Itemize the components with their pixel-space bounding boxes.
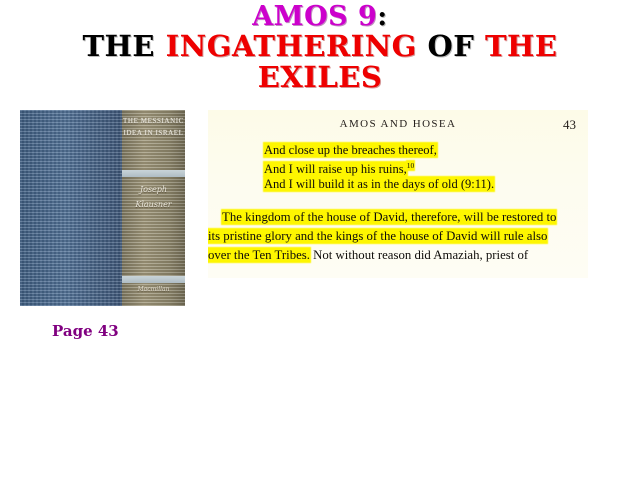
paragraph-line-2: its pristine glory and the kings of the … xyxy=(208,227,588,246)
book-front-board xyxy=(20,110,122,306)
spine-band-top xyxy=(122,170,185,177)
book-spine-publisher: Macmillan xyxy=(122,286,185,293)
title-line-2: THE INGATHERING OF THE xyxy=(0,31,640,62)
verse-line-2-text: And I will raise up his ruins, xyxy=(264,162,407,176)
title-word-the-first: THE xyxy=(82,29,165,63)
verse-quote-block: And close up the breaches thereof, And I… xyxy=(264,143,574,192)
page-caption: Page 43 xyxy=(52,322,119,340)
book-cover-image: THE MESSIANIC IDEA IN ISRAEL Joseph Klau… xyxy=(20,110,185,306)
scan-running-head: AMOS AND HOSEA xyxy=(208,118,588,130)
paragraph-line-1: The kingdom of the house of David, there… xyxy=(208,208,588,227)
verse-line-2-footnote-marker: 10 xyxy=(407,161,415,170)
title-word-ingathering: INGATHERING xyxy=(166,29,428,63)
paragraph-line-3: over the Ten Tribes. Not without reason … xyxy=(208,246,588,265)
verse-line-2: And I will raise up his ruins,10 xyxy=(264,158,574,177)
paragraph-line-2-text: its pristine glory and the kings of the … xyxy=(208,229,547,243)
scan-page-number: 43 xyxy=(563,117,576,133)
verse-line-1-text: And close up the breaches thereof, xyxy=(264,143,437,157)
paragraph-line-3-rest: Not without reason did Amaziah, priest o… xyxy=(310,248,528,262)
verse-line-3-text: And I will build it as in the days of ol… xyxy=(264,177,494,191)
paragraph-line-3-highlighted: over the Ten Tribes. xyxy=(208,248,310,262)
scan-header-row: AMOS AND HOSEA 43 xyxy=(208,118,588,134)
book-spine-title: THE MESSIANIC IDEA IN ISRAEL xyxy=(122,115,185,139)
spine-band-bottom xyxy=(122,276,185,283)
scanned-page-image: AMOS AND HOSEA 43 And close up the breac… xyxy=(208,110,588,278)
scanned-page-content: AMOS AND HOSEA 43 And close up the breac… xyxy=(208,110,588,278)
title-line-3: EXILES xyxy=(0,62,640,93)
slide-title: AMOS 9: THE INGATHERING OF THE EXILES xyxy=(0,2,640,94)
title-word-the-second: THE xyxy=(485,29,558,63)
title-word-colon: : xyxy=(377,1,387,32)
title-word-amos9: AMOS 9 xyxy=(252,1,377,32)
title-word-exiles: EXILES xyxy=(258,60,383,94)
book-spine: THE MESSIANIC IDEA IN ISRAEL Joseph Klau… xyxy=(122,110,185,306)
title-word-of: OF xyxy=(428,29,485,63)
verse-line-1: And close up the breaches thereof, xyxy=(264,143,574,158)
title-line-1: AMOS 9: xyxy=(0,2,640,31)
paragraph-line-1-text: The kingdom of the house of David, there… xyxy=(222,210,556,224)
verse-line-3: And I will build it as in the days of ol… xyxy=(264,177,574,192)
book-spine-author: Joseph Klausner xyxy=(122,182,185,212)
scan-body-paragraph: The kingdom of the house of David, there… xyxy=(208,208,588,265)
